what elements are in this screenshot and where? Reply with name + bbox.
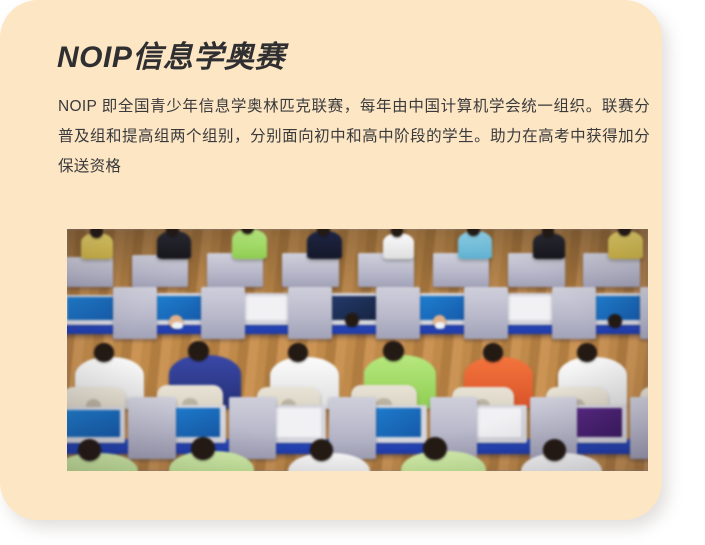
exam-hall-photo [67,229,648,471]
description-paragraph: NOIP 即全国青少年信息学奥林匹克联赛，每年由中国计算机学会统一组织。联赛分普… [58,92,650,182]
page-title: NOIP信息学奥赛 [57,38,285,78]
photo-scene [67,229,648,471]
photo-vignette [67,229,648,471]
info-card: NOIP信息学奥赛 NOIP 即全国青少年信息学奥林匹克联赛，每年由中国计算机学… [0,0,662,520]
